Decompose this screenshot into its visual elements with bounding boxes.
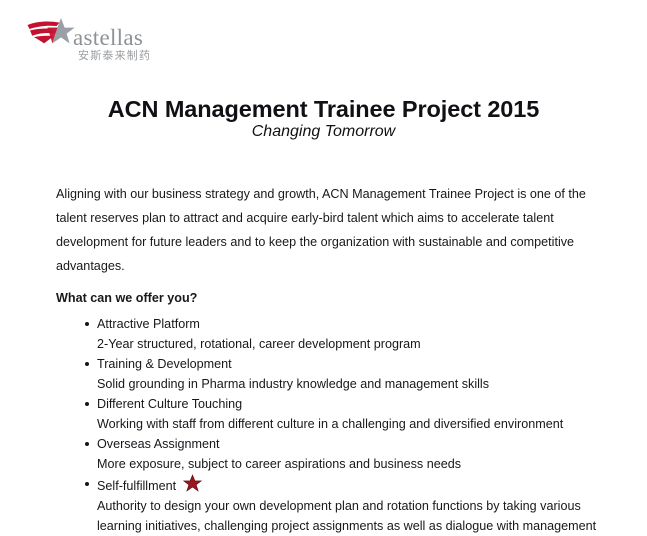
astellas-logo: astellas 安斯泰来制药	[26, 14, 166, 66]
document-body: Aligning with our business strategy and …	[56, 182, 601, 536]
list-item-title: Attractive Platform	[97, 314, 601, 334]
list-item: Different Culture Touching Working with …	[56, 394, 601, 434]
bullet-icon	[85, 402, 89, 406]
bullet-icon	[85, 322, 89, 326]
bullet-icon	[85, 442, 89, 446]
astellas-wordmark: astellas	[73, 26, 143, 49]
list-item-description: Authority to design your own development…	[97, 496, 601, 536]
list-item: Training & Development Solid grounding i…	[56, 354, 601, 394]
list-item-description: More exposure, subject to career aspirat…	[97, 454, 601, 474]
red-star-icon	[183, 474, 202, 493]
list-item: Attractive Platform 2-Year structured, r…	[56, 314, 601, 354]
list-item-title-text: Self-fulfillment	[97, 479, 176, 493]
offer-heading: What can we offer you?	[56, 286, 601, 310]
list-item-description: Solid grounding in Pharma industry knowl…	[97, 374, 601, 394]
list-item-title: Overseas Assignment	[97, 434, 601, 454]
bullet-icon	[85, 482, 89, 486]
intro-paragraph: Aligning with our business strategy and …	[56, 182, 601, 278]
list-item-title: Training & Development	[97, 354, 601, 374]
list-item-description: Working with staff from different cultur…	[97, 414, 601, 434]
list-item: Overseas Assignment More exposure, subje…	[56, 434, 601, 474]
list-item-description: 2-Year structured, rotational, career de…	[97, 334, 601, 354]
list-item-title: Self-fulfillment	[97, 474, 601, 496]
page-subtitle: Changing Tomorrow	[0, 121, 647, 143]
list-item-title-text: Training & Development	[97, 357, 232, 371]
list-item-title-text: Overseas Assignment	[97, 437, 220, 451]
offer-list: Attractive Platform 2-Year structured, r…	[56, 314, 601, 536]
list-item-title: Different Culture Touching	[97, 394, 601, 414]
bullet-icon	[85, 362, 89, 366]
list-item-title-text: Different Culture Touching	[97, 397, 242, 411]
list-item-title-text: Attractive Platform	[97, 317, 200, 331]
astellas-chinese-name: 安斯泰来制药	[78, 50, 151, 62]
page-title: ACN Management Trainee Project 2015	[0, 94, 647, 124]
list-item: Self-fulfillment Authority to design you…	[56, 474, 601, 536]
